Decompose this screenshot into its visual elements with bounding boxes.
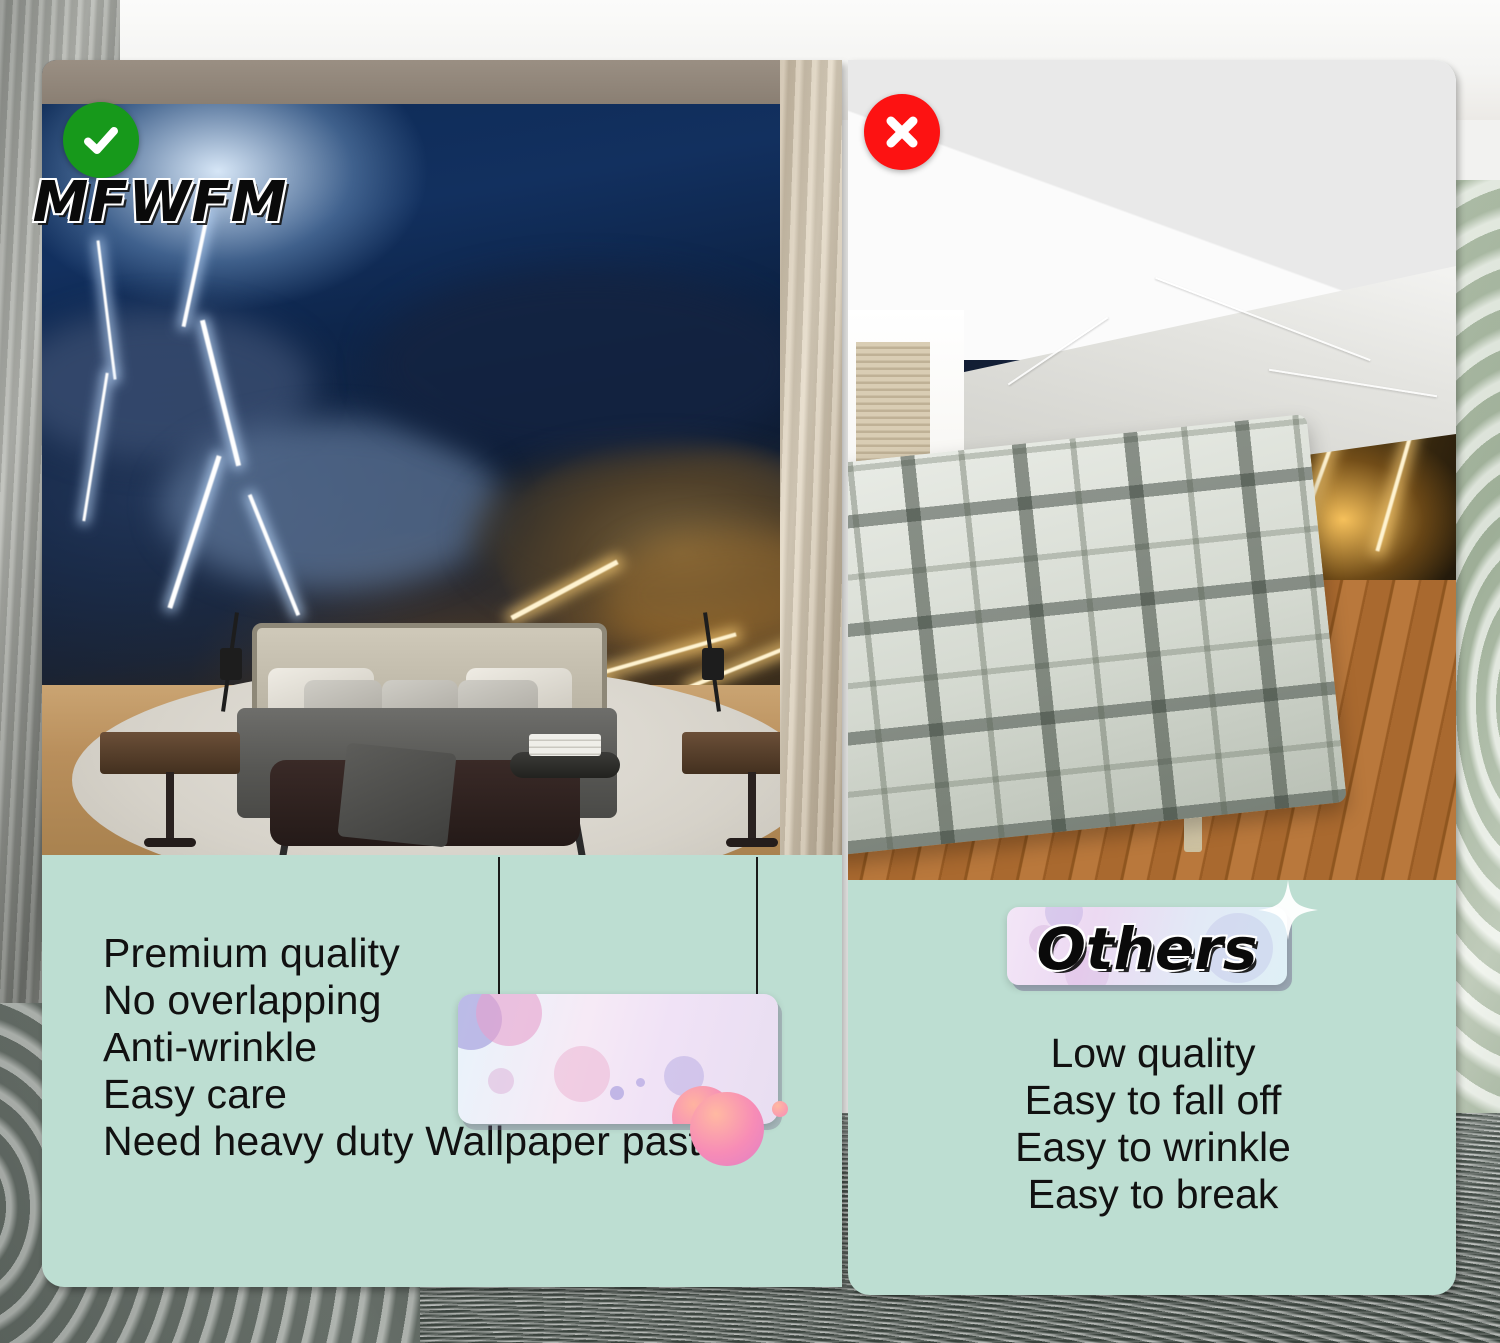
nightstand-left <box>100 732 240 774</box>
bad-product-panel: Low quality Easy to fall off Easy to wri… <box>848 60 1456 1295</box>
nightstand-base <box>726 838 778 847</box>
decor-blob <box>488 1068 514 1094</box>
room-ceiling <box>42 60 842 104</box>
cross-circle-icon <box>864 94 940 170</box>
bad-product-photo <box>848 60 1456 880</box>
decor-blob-overflow <box>690 1092 764 1166</box>
decor-blob <box>636 1078 645 1087</box>
check-circle-icon <box>63 102 139 178</box>
sign-string <box>756 857 758 1002</box>
nightstand-leg <box>748 772 756 842</box>
drawback-item: Easy to break <box>908 1171 1398 1218</box>
nightstand-base <box>144 838 196 847</box>
drawback-item: Easy to wrinkle <box>908 1124 1398 1171</box>
comparison-infographic: Premium quality No overlapping Anti-wrin… <box>0 0 1500 1343</box>
cloud-shape <box>162 420 502 590</box>
plaid-bed <box>848 414 1347 856</box>
book-stack <box>529 734 601 756</box>
cloud-shape <box>372 270 802 460</box>
sign-string <box>498 857 500 1002</box>
drawback-item: Easy to fall off <box>908 1077 1398 1124</box>
decor-blob <box>610 1086 624 1100</box>
brand-sign-label: MFWFM <box>0 170 320 235</box>
others-badge-label: Others <box>1007 915 1287 983</box>
nightstand-leg <box>166 772 174 842</box>
window-curtain <box>780 60 842 855</box>
drawback-item: Low quality <box>908 1030 1398 1077</box>
floor-lamp-head <box>702 648 724 680</box>
decor-blob-overflow <box>772 1101 788 1117</box>
decor-blob <box>554 1046 610 1102</box>
bad-drawback-list: Low quality Easy to fall off Easy to wri… <box>908 1030 1398 1218</box>
throw-blanket <box>337 743 456 848</box>
brand-sign-assembly <box>458 857 818 1157</box>
floor-lamp-head <box>220 648 242 680</box>
